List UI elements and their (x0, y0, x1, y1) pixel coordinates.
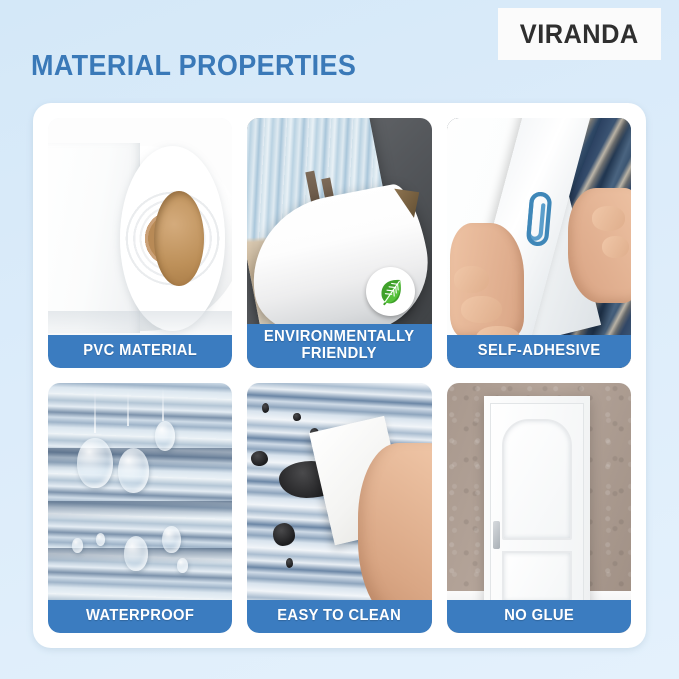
leaf-icon (375, 275, 407, 307)
feature-label-line: PVC MATERIAL (56, 343, 224, 359)
pvc-roll-image (48, 118, 232, 368)
feature-label-line: FRIENDLY (256, 346, 424, 362)
brand-logo-box: VIRANDA (498, 8, 661, 60)
feature-label-line: WATERPROOF (56, 608, 224, 624)
no-glue-image (447, 383, 631, 633)
feature-label-line: SELF-ADHESIVE (455, 343, 623, 359)
feature-label-environmentally-friendly: ENVIRONMENTALLY FRIENDLY (247, 324, 431, 368)
infographic-page: { "brand": { "name": "VIRANDA" }, "heade… (0, 0, 679, 679)
page-title: MATERIAL PROPERTIES (31, 50, 356, 83)
feature-card-no-glue[interactable]: NO GLUE (447, 383, 631, 633)
feature-label-waterproof: WATERPROOF (48, 600, 232, 633)
easy-to-clean-image (247, 383, 431, 633)
brand-name: VIRANDA (520, 19, 639, 50)
feature-label-no-glue: NO GLUE (447, 600, 631, 633)
paperclip-icon (516, 186, 561, 253)
feature-card-self-adhesive[interactable]: SELF-ADHESIVE (447, 118, 631, 368)
feature-card-pvc-material[interactable]: PVC MATERIAL (48, 118, 232, 368)
features-panel: PVC MATERIAL (33, 103, 646, 648)
feature-label-pvc-material: PVC MATERIAL (48, 335, 232, 368)
feature-label-line: NO GLUE (455, 608, 623, 624)
feature-card-easy-to-clean[interactable]: EASY TO CLEAN (247, 383, 431, 633)
feature-card-waterproof[interactable]: WATERPROOF (48, 383, 232, 633)
self-adhesive-image (447, 118, 631, 368)
feature-card-environmentally-friendly[interactable]: ENVIRONMENTALLY FRIENDLY (247, 118, 431, 368)
paperclip-badge (516, 186, 561, 253)
feature-label-line: ENVIRONMENTALLY (256, 329, 424, 345)
features-grid: PVC MATERIAL (48, 118, 631, 633)
feature-label-line: EASY TO CLEAN (256, 608, 424, 624)
feature-label-self-adhesive: SELF-ADHESIVE (447, 335, 631, 368)
feature-label-easy-to-clean: EASY TO CLEAN (247, 600, 431, 633)
waterproof-image (48, 383, 232, 633)
eco-badge (366, 267, 415, 316)
